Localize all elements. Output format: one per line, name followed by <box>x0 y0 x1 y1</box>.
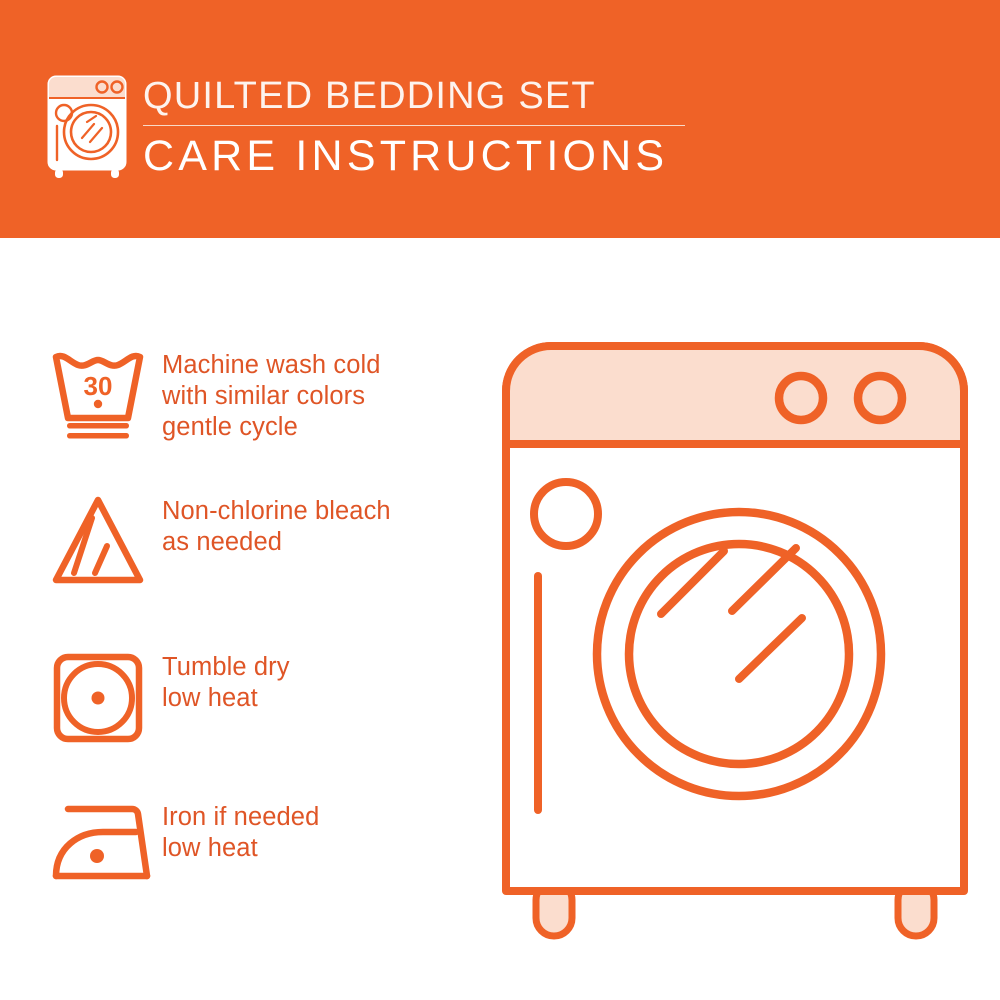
care-line: Tumble dry <box>162 652 290 683</box>
care-text-iron: Iron if needed low heat <box>162 800 319 864</box>
non-chlorine-bleach-triangle-icon <box>50 494 162 586</box>
control-panel <box>506 346 964 444</box>
care-line: low heat <box>162 833 319 864</box>
care-text-bleach: Non-chlorine bleach as needed <box>162 494 391 558</box>
care-text-machine-wash: Machine wash cold with similar colors ge… <box>162 348 381 443</box>
washing-machine-icon <box>44 72 130 180</box>
care-line: as needed <box>162 527 391 558</box>
care-text-tumble-dry: Tumble dry low heat <box>162 650 290 714</box>
header-text-block: QUILTED BEDDING SET CARE INSTRUCTIONS <box>143 74 703 180</box>
tumble-dry-icon <box>50 650 162 746</box>
care-line: Non-chlorine bleach <box>162 496 391 527</box>
care-row-tumble-dry: Tumble dry low heat <box>50 650 480 746</box>
washing-machine-illustration <box>496 336 972 940</box>
care-line: with similar colors <box>162 381 381 412</box>
header-band: QUILTED BEDDING SET CARE INSTRUCTIONS <box>0 0 1000 238</box>
page-title: QUILTED BEDDING SET <box>143 74 703 118</box>
care-row-bleach: Non-chlorine bleach as needed <box>50 494 480 586</box>
wash-temperature-label: 30 <box>84 371 113 401</box>
care-row-machine-wash: 30 Machine wash cold with similar colors… <box>50 348 480 443</box>
title-divider <box>143 125 685 126</box>
care-line: gentle cycle <box>162 412 381 443</box>
care-row-iron: Iron if needed low heat <box>50 800 480 886</box>
page-subtitle: CARE INSTRUCTIONS <box>143 132 703 180</box>
care-instructions-infographic: QUILTED BEDDING SET CARE INSTRUCTIONS 30… <box>0 0 1000 1000</box>
care-line: low heat <box>162 683 290 714</box>
care-line: Machine wash cold <box>162 350 381 381</box>
machine-wash-tub-icon: 30 <box>50 348 162 442</box>
care-line: Iron if needed <box>162 802 319 833</box>
iron-icon <box>50 800 162 886</box>
